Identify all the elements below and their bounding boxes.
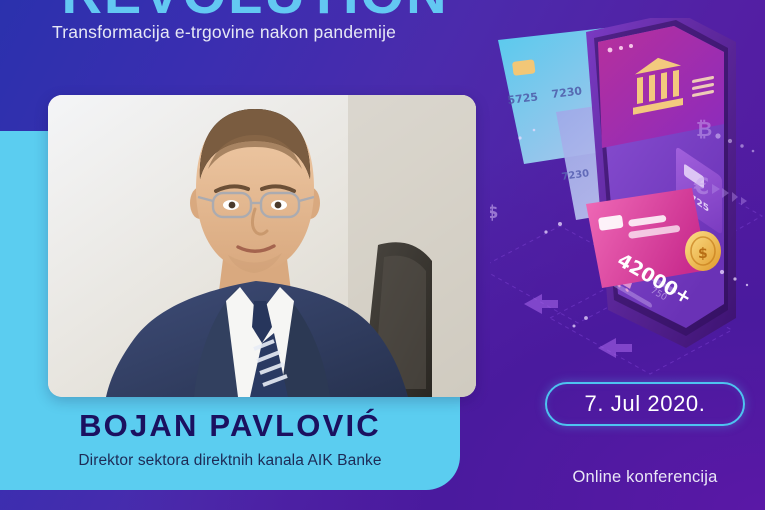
bank-building-icon [633, 53, 683, 115]
floor-arrows [524, 294, 632, 358]
event-date-text: 7. Jul 2020. [585, 391, 706, 417]
credit-card-label: Credit Card [597, 135, 643, 150]
phone-screen: 5725 2500 750 [598, 26, 724, 328]
svg-text:$: $ [490, 202, 499, 223]
svg-text:$: $ [698, 246, 708, 262]
sparkle-dots [518, 129, 748, 328]
svg-text:€: € [693, 175, 709, 200]
screen-list-rows [612, 236, 676, 308]
page-subtitle: Transformacija e-trgovine nakon pandemij… [52, 22, 396, 43]
svg-text:₿: ₿ [696, 117, 712, 141]
currency-dollar: $ [490, 202, 499, 229]
isometric-mobile-banking-illustration: 5725 7230 7777 Credit Card 7230 7777 000… [490, 18, 765, 378]
hamburger-menu-icon [692, 76, 714, 97]
credit-card-inner: Credit Card 7230 7777 0005 [556, 94, 698, 220]
gold-coin-icon: $ [685, 231, 721, 271]
speaker-name: BOJAN PAVLOVIĆ [0, 408, 460, 444]
amount-highlight: 42000+ [614, 249, 696, 309]
speaker-role: Direktor sektora direktnih kanala AIK Ba… [0, 452, 460, 470]
svg-text:7777: 7777 [599, 163, 628, 178]
side-card: 5725 [676, 146, 722, 235]
event-date-badge: 7. Jul 2020. [545, 382, 745, 426]
floor-grid [490, 188, 762, 374]
side-card-number: 5725 [684, 188, 709, 215]
promo-banner: 5725 7230 7777 Credit Card 7230 7777 000… [0, 0, 765, 510]
speaker-photo [48, 95, 476, 397]
credit-card-blue: 5725 7230 7777 [498, 24, 666, 164]
svg-text:0005: 0005 [639, 157, 668, 172]
currency-bitcoin: ₿ [696, 117, 754, 152]
card-front-number-part3: 7777 [597, 78, 629, 95]
card-front-number-part2: 7230 [551, 84, 583, 101]
page-title: REVOLUTION [0, 0, 510, 22]
headline-wrap: REVOLUTION [0, 0, 510, 22]
amount-upper: 2500 [649, 200, 674, 220]
amount-highlight-bar: 42000+ [586, 188, 708, 309]
card-front-number-part1: 5725 [507, 90, 539, 107]
currency-euro: € [693, 175, 747, 205]
amount-lower: 750 [649, 286, 669, 303]
event-format-label: Online konferencija [545, 468, 745, 487]
camera-dots [608, 44, 633, 52]
shopping-cart-icon [613, 270, 632, 295]
media-arrows [610, 214, 637, 238]
phone-device [586, 18, 736, 348]
svg-text:7230: 7230 [561, 168, 590, 183]
